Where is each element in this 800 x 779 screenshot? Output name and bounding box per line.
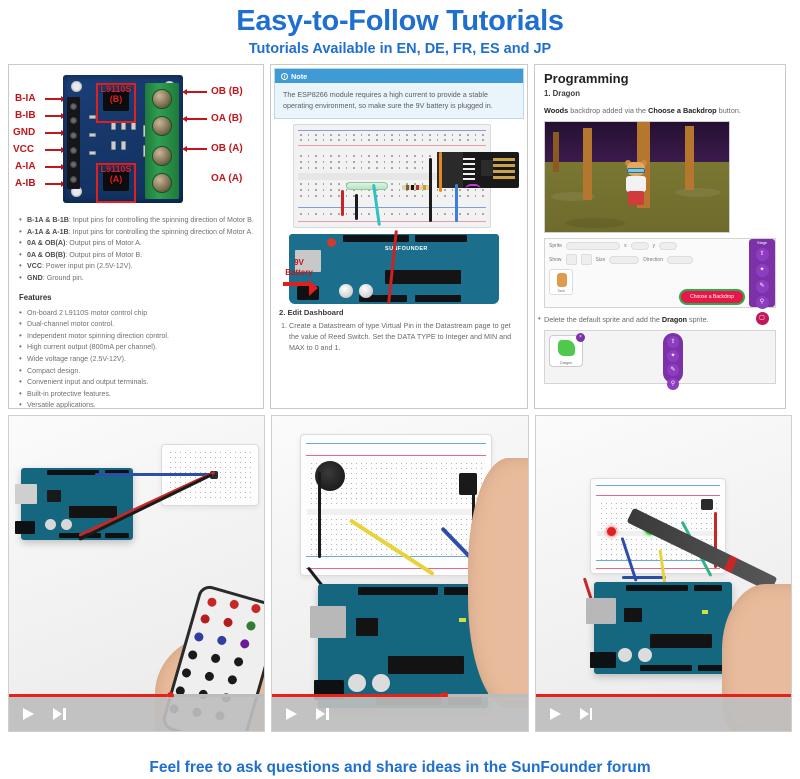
surprise-icon[interactable]: ✦ — [667, 350, 679, 362]
paint-icon[interactable]: ✎ — [667, 364, 679, 376]
led-red — [607, 527, 616, 536]
list-item: Wide voltage range (2.5V-12V). — [19, 354, 255, 366]
wire-black-2 — [318, 472, 321, 558]
sprite-thumbnail-label: Tank — [550, 289, 572, 293]
sprite-direction-input[interactable] — [667, 256, 693, 264]
list-item: 0A & OB(B): Output pins of Motor B. — [19, 250, 255, 262]
terminal-screw-icon — [152, 116, 172, 136]
video-controls — [9, 697, 264, 731]
sprite-character — [623, 162, 649, 210]
info-icon: i — [281, 73, 288, 80]
note-header: i Note — [275, 69, 523, 83]
board-logo: SUNFOUNDER — [385, 246, 428, 252]
wire-orange — [439, 152, 442, 192]
lead-ob-a — [187, 148, 207, 150]
dragon-thumbnail-label: Dragon — [550, 361, 582, 365]
lead-oa-b — [187, 118, 207, 120]
note-body: The ESP8266 module requires a high curre… — [275, 83, 523, 118]
size-label: Size — [596, 257, 606, 263]
sprite-field-label: Sprite — [549, 243, 562, 249]
wire-black — [429, 158, 432, 222]
delete-sprite-icon[interactable]: × — [576, 333, 585, 342]
features-heading: Features — [9, 285, 263, 304]
sprite-name-input[interactable] — [566, 242, 620, 250]
battery-label: 9V Battery — [279, 258, 319, 278]
pin-description-list: B-1A & B-1B: Input pins for controlling … — [9, 211, 263, 285]
wire-blue — [95, 473, 213, 476]
pin-label-ob-b: OB (B) — [211, 86, 243, 97]
scratch-sprite-panel-dragon: × Dragon ⇧ ✦ ✎ ⚲ — [544, 330, 776, 384]
reed-switch — [346, 182, 388, 190]
battery-arrow-icon — [283, 282, 309, 286]
video-frame — [9, 416, 264, 731]
skip-next-icon[interactable] — [580, 707, 594, 721]
esp8266-module — [437, 152, 519, 188]
terminal-screw-icon — [152, 89, 172, 109]
scratch-sprite-panel: Sprite x y Show Size Direction — [544, 238, 776, 308]
note-title: Note — [291, 72, 307, 81]
list-item: Versatile applications. — [19, 400, 255, 409]
show-toggle-off[interactable] — [581, 254, 592, 265]
mount-hole-icon — [71, 81, 82, 92]
wire-blue-2 — [622, 576, 666, 579]
wire-blue — [455, 184, 458, 222]
pin-header-strip — [67, 97, 80, 189]
pin-label-b-ib: B-IB — [15, 110, 36, 121]
list-item: Built-in protective features. — [19, 389, 255, 401]
video-frame — [272, 416, 527, 731]
panel-note-wiring: i Note The ESP8266 module requires a hig… — [270, 64, 528, 409]
pin-label-vcc: VCC — [13, 144, 34, 155]
breadboard — [300, 434, 492, 576]
x-label: x — [624, 243, 627, 249]
programming-title: Programming — [535, 65, 785, 88]
arduino-uno — [21, 468, 133, 540]
lead-vcc — [45, 149, 65, 151]
pin-label-ob-a: OB (A) — [211, 143, 243, 154]
search-icon[interactable]: ⚲ — [667, 378, 679, 390]
terminal-screw-icon — [152, 173, 172, 193]
sprite-x-input[interactable] — [631, 242, 649, 250]
stage-column: Stage ⇧ ✦ ✎ ⚲ ▢ — [749, 239, 775, 307]
video-led-stylus[interactable] — [535, 415, 792, 732]
sprite-y-input[interactable] — [659, 242, 677, 250]
direction-label: Direction — [643, 257, 663, 263]
step-list: Create a Datastream of type Virtual Pin … — [271, 318, 527, 357]
list-item: High current output (800mA per channel). — [19, 342, 255, 354]
microcontroller-chip — [385, 270, 461, 284]
video-ir-remote[interactable] — [8, 415, 265, 732]
page-title: Easy-to-Follow Tutorials — [0, 4, 800, 38]
pin-label-b-ia: B-IA — [15, 93, 36, 104]
list-item: Dual-channel motor control. — [19, 319, 255, 331]
list-item: B-1A & B-1B: Input pins for controlling … — [19, 215, 255, 227]
step-heading: 2. Edit Dashboard — [271, 304, 527, 318]
scratch-stage-preview — [544, 121, 730, 233]
backdrop-instruction: Woods backdrop added via the Choose a Ba… — [535, 102, 785, 121]
reset-button-icon — [327, 238, 336, 247]
push-button — [701, 499, 713, 510]
lead-b-ib — [45, 115, 65, 117]
video-controls — [536, 697, 791, 731]
list-item: A-1A & A-1B: Input pins for controlling … — [19, 227, 255, 239]
video-controls — [272, 697, 527, 731]
upload-icon[interactable]: ⇧ — [667, 336, 679, 348]
sprite-size-input[interactable] — [609, 256, 639, 264]
tree-icon — [553, 132, 559, 172]
list-item: Compact design. — [19, 366, 255, 378]
chip-label-b: L9110S (B) — [96, 84, 136, 104]
wire-purple — [465, 184, 481, 190]
page-subtitle: Tutorials Available in EN, DE, FR, ES an… — [0, 39, 800, 59]
dragon-sprite-instruction: Delete the default sprite and add the Dr… — [535, 308, 785, 328]
features-list: On-board 2 L9110S motor control chip Dua… — [9, 304, 263, 409]
upload-icon[interactable]: ⇧ — [756, 248, 769, 261]
sprite-action-column: ⇧ ✦ ✎ ⚲ — [663, 333, 683, 383]
pin-label-a-ib: A-IB — [15, 178, 36, 189]
panel-motor-driver: B-IA B-IB GND VCC A-IA A-IB — [8, 64, 264, 409]
sprite-thumbnail[interactable]: Tank — [549, 269, 573, 295]
wiring-diagram: SUNFOUNDER 9V Battery — [279, 122, 519, 304]
list-item: Convenient input and output terminals. — [19, 377, 255, 389]
list-item: 0A & OB(A): Output pins of Motor A. — [19, 238, 255, 250]
y-label: y — [653, 243, 656, 249]
wire-red — [341, 190, 344, 216]
list-item: On-board 2 L9110S motor control chip — [19, 308, 255, 320]
pin-label-oa-a: OA (A) — [211, 173, 242, 184]
stage-column-label: Stage — [757, 241, 767, 245]
video-frame — [536, 416, 791, 731]
wire-black-2 — [355, 194, 358, 220]
lead-b-ia — [45, 98, 65, 100]
list-item: Independent motor spinning direction con… — [19, 331, 255, 343]
chip-label-a: L9110S (A) — [96, 164, 136, 184]
arduino-uno — [318, 584, 488, 708]
paint-icon[interactable]: ✎ — [756, 280, 769, 293]
list-item: Create a Datastream of type Virtual Pin … — [289, 320, 519, 353]
play-icon[interactable] — [548, 707, 562, 721]
skip-next-icon[interactable] — [53, 707, 67, 721]
play-icon[interactable] — [284, 707, 298, 721]
arduino-uno — [594, 582, 732, 674]
page-header: Easy-to-Follow Tutorials Tutorials Avail… — [0, 0, 800, 59]
programming-subtitle: 1. Dragon — [535, 88, 785, 102]
video-buzzer-button[interactable] — [271, 415, 528, 732]
skip-next-icon[interactable] — [316, 707, 330, 721]
tree-icon — [685, 126, 694, 190]
list-item: VCC: Power input pin (2.5V-12V). — [19, 261, 255, 273]
pin-label-oa-b: OA (B) — [211, 113, 242, 124]
motor-driver-photo: B-IA B-IB GND VCC A-IA A-IB — [11, 69, 261, 209]
terminal-screw-icon — [152, 146, 172, 166]
lead-ob-b — [187, 91, 207, 93]
video-row — [0, 415, 800, 732]
documentation-row: B-IA B-IB GND VCC A-IA A-IB — [0, 64, 800, 409]
screw-terminal-block — [145, 83, 179, 199]
pin-label-a-ia: A-IA — [15, 161, 36, 172]
resistor — [402, 185, 430, 190]
pin-label-gnd: GND — [13, 127, 35, 138]
note-callout: i Note The ESP8266 module requires a hig… — [274, 68, 524, 119]
pcb-body: L9110S (B) L9110S (A) — [63, 75, 183, 203]
lead-a-ia — [45, 166, 65, 168]
footer-text: Feel free to ask questions and share ide… — [0, 759, 800, 777]
lead-gnd — [45, 132, 65, 134]
lead-a-ib — [45, 183, 65, 185]
panel-programming: Programming 1. Dragon Woods backdrop add… — [534, 64, 786, 409]
hand — [468, 458, 528, 708]
list-item: GND: Ground pin. — [19, 273, 255, 285]
surprise-icon[interactable]: ✦ — [756, 264, 769, 277]
choose-a-backdrop-button[interactable]: Choose a Backdrop — [679, 289, 745, 305]
show-label: Show — [549, 257, 562, 263]
tree-icon — [583, 128, 592, 200]
play-icon[interactable] — [21, 707, 35, 721]
show-toggle-on[interactable] — [566, 254, 577, 265]
dragon-sprite-thumbnail[interactable]: × Dragon — [549, 335, 583, 367]
